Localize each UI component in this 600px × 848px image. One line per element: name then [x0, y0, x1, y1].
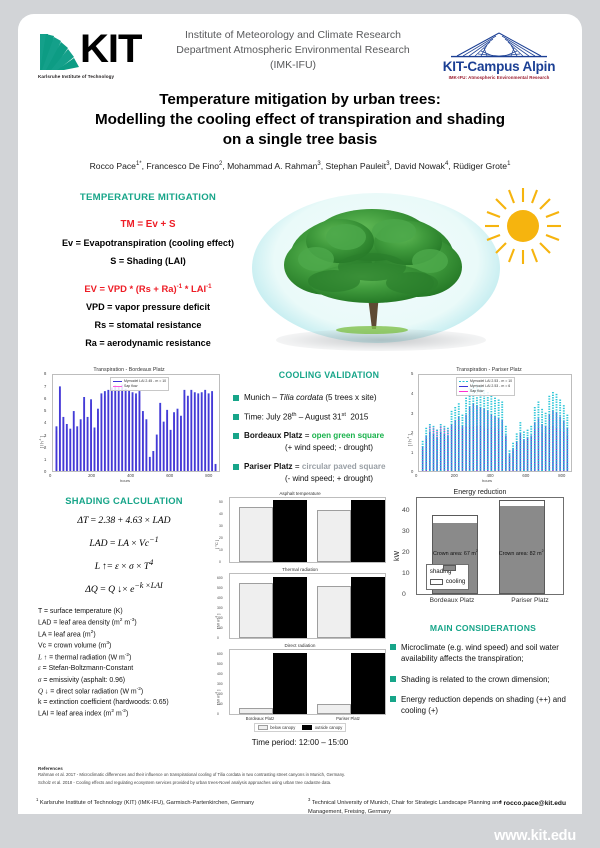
definition-vc: Vc = crown volume (m3) [38, 640, 214, 651]
equation-tm: TM = Ev + S [42, 219, 254, 230]
validation-item-site: Munich – Tilia cordata (5 trees x site) [233, 393, 425, 402]
definition-ra: Ra = aerodynamic resistance [42, 338, 254, 348]
bullet-square-icon [233, 433, 239, 439]
legend-item-shading: shading [430, 567, 466, 577]
y-tick: 2 [411, 430, 413, 435]
consideration-label: Energy reduction depends on shading (++)… [401, 694, 576, 717]
poster-page: KIT Karlsruhe Institute of Technology In… [18, 14, 582, 834]
affiliation-1: 1 Karlsruhe Institute of Technology (KIT… [36, 797, 304, 808]
definition-sigma: σ = emissivity (asphalt: 0.96) [38, 675, 214, 686]
bullet-square-icon [390, 644, 396, 650]
x-tick: 0 [415, 473, 417, 478]
legend-item: Sap flow [459, 389, 512, 394]
definition-q-down: Q ↓ = direct solar radiation (W m-2) [38, 686, 214, 697]
temperature-mitigation-block: TEMPERATURE MITIGATION TM = Ev + S Ev = … [42, 187, 254, 348]
x-axis-label: hours [120, 478, 130, 483]
y-tick: 600 [217, 652, 223, 656]
y-tick: 30 [219, 524, 223, 528]
y-tick: 3 [44, 433, 46, 438]
bar-outside-bordeaux [273, 577, 307, 638]
y-tick: 4 [44, 420, 46, 425]
sun-icon [484, 187, 562, 265]
main-considerations-block: MAIN CONSIDERATIONS Microclimate (e.g. w… [390, 623, 576, 717]
kit-logo-letters: KIT [80, 27, 141, 72]
time-period-label: Time period: 12:00 – 15:00 [214, 738, 386, 747]
annotation-crown-pariser: Crown area: 82 m2 [499, 549, 544, 557]
definition-vpd: VPD = vapor pressure deficit [42, 302, 254, 312]
y-tick: 7 [44, 384, 46, 389]
y-tick: 20 [402, 549, 410, 556]
consideration-label: Microclimate (e.g. wind speed) and soil … [401, 642, 576, 665]
y-tick: 200 [217, 692, 223, 696]
bar-outside-bordeaux [273, 500, 307, 561]
bar-group [230, 498, 385, 562]
y-tick: 400 [217, 596, 223, 600]
title-line-2: Modelling the cooling effect of transpir… [95, 111, 505, 128]
validation-item-pariser: Pariser Platz = circular paved square [233, 462, 425, 471]
y-tick: 8 [44, 371, 46, 376]
y-axis-label: [ l h-1 ] [406, 434, 412, 446]
chart-legend: shading cooling [426, 564, 470, 590]
bar-below-bordeaux [239, 708, 273, 714]
title-line-1: Temperature mitigation by urban trees: [159, 91, 441, 108]
x-tick: 200 [88, 473, 95, 478]
tree-illustration-icon [268, 201, 484, 343]
y-tick: 40 [219, 512, 223, 516]
shading-variable-definitions: T = surface temperature (K) LAD = leaf a… [34, 606, 214, 720]
bullet-square-icon [390, 676, 396, 682]
y-tick: 30 [402, 528, 410, 535]
equation-thermal: L ↑= ε × σ × T4 [34, 558, 214, 572]
x-tick-bordeaux: Bordeaux Platz [416, 597, 488, 604]
x-tick: 600 [166, 473, 173, 478]
definition-la: LA = leaf area (m2) [38, 629, 214, 640]
y-tick: 5 [44, 408, 46, 413]
validation-item-label: Munich – Tilia cordata (5 trees x site) [244, 393, 377, 402]
definition-lad: LAD = leaf area density (m2 m-3) [38, 617, 214, 628]
bullet-square-icon [233, 395, 239, 401]
y-tick: 4 [411, 391, 413, 396]
chart-thermal-radiation: Thermal radiation [ W m-2 ] 010020030040… [214, 567, 386, 641]
y-tick: 10 [402, 570, 410, 577]
bar-outside-pariser [351, 653, 385, 714]
bar-group [230, 650, 385, 714]
bar-group [230, 574, 385, 638]
bar-pariser [499, 500, 546, 594]
y-tick: 100 [217, 702, 223, 706]
y-tick: 20 [219, 536, 223, 540]
x-tick: 0 [49, 473, 51, 478]
y-tick: 300 [217, 682, 223, 686]
kit-fan-icon [38, 32, 82, 72]
author-list: Rocco Pace1*, Francesco De Fino2, Mohamm… [48, 161, 552, 171]
chart-legend: Mymodel LAI 2.45 - m = 10 Sap flow [110, 377, 169, 392]
definition-rs: Rs = stomatal resistance [42, 320, 254, 330]
y-tick: 0 [44, 469, 46, 474]
definition-epsilon: ε = Stefan-Boltzmann-Constant [38, 663, 214, 674]
swatch-outside-canopy [302, 725, 312, 730]
campus-alpin-name: KIT-Campus Alpin [434, 59, 564, 74]
kit-logo: KIT Karlsruhe Institute of Technology [38, 30, 156, 82]
reference-item: Scholz et al. 2018 - Cooling effects and… [38, 779, 518, 787]
y-tick: 1 [44, 457, 46, 462]
definition-t: T = surface temperature (K) [38, 606, 214, 617]
radiation-charts-legend: below canopy outside canopy [254, 723, 347, 732]
y-tick: 0 [411, 469, 413, 474]
y-tick: 6 [44, 396, 46, 401]
bar-outside-bordeaux [273, 653, 307, 714]
y-tick: 400 [217, 672, 223, 676]
shading-equations: ΔT = 2.38 + 4.63 × LAD LAD = LA × Vc−1 L… [34, 515, 214, 596]
cooling-validation-heading: COOLING VALIDATION [279, 370, 379, 380]
legend-item-below: below canopy [258, 725, 296, 730]
title-block: Temperature mitigation by urban trees: M… [18, 86, 582, 171]
swatch-shading [443, 565, 456, 572]
cooling-validation-block: COOLING VALIDATION Munich – Tilia cordat… [233, 365, 425, 484]
x-tick: 800 [558, 473, 565, 478]
contact-email[interactable]: * rocco.pace@kit.edu [499, 800, 566, 807]
bar-below-pariser [317, 510, 351, 561]
x-tick: 800 [205, 473, 212, 478]
equation-delta-t: ΔT = 2.38 + 4.63 × LAD [34, 515, 214, 526]
y-tick: 200 [217, 616, 223, 620]
y-tick: 2 [44, 445, 46, 450]
definition-s: S = Shading (LAI) [42, 256, 254, 266]
definition-l-up: L ↑ = thermal radiation (W m-2) [38, 652, 214, 663]
institute-title: Institute of Meteorology and Climate Res… [164, 28, 422, 73]
equation-lad: LAD = LA × Vc−1 [34, 535, 214, 549]
consideration-item-2: Shading is related to the crown dimensio… [390, 674, 576, 685]
y-tick: 5 [411, 371, 413, 376]
consideration-item-3: Energy reduction depends on shading (++)… [390, 694, 576, 717]
chart-asphalt-temperature: Asphalt temperature [ °C ] 01020304050 [214, 491, 386, 565]
y-tick: 50 [219, 500, 223, 504]
y-tick: 0 [217, 712, 219, 716]
validation-item-label: Bordeaux Platz = open green square [244, 431, 384, 440]
shading-calculation-heading: SHADING CALCULATION [34, 495, 214, 506]
chart-title: Transpiration - Pariser Platz [404, 367, 574, 374]
y-tick: 300 [217, 606, 223, 610]
reference-item: Rahman et al. 2017 - Microclimatic diffe… [38, 771, 518, 779]
validation-item-label: Pariser Platz = circular paved square [244, 462, 386, 471]
hero-section: TEMPERATURE MITIGATION TM = Ev + S Ev = … [18, 179, 582, 361]
equation-delta-q: ΔQ = Q ↓× e−k ×LAI [34, 581, 214, 595]
references-block: References Rahman et al. 2017 - Microcli… [38, 766, 518, 786]
definition-k: k = extinction coefficient (hardwoods: 0… [38, 697, 214, 708]
mountain-lines-icon [443, 32, 555, 58]
y-tick: 0 [217, 636, 219, 640]
consideration-label: Shading is related to the crown dimensio… [401, 674, 550, 685]
bar-below-bordeaux [239, 583, 273, 637]
x-tick-pariser: Pariser Platz [494, 597, 566, 604]
chart-title: Energy reduction [390, 489, 570, 497]
kit-url[interactable]: www.kit.edu [494, 828, 576, 844]
x-axis-label: hours [482, 478, 492, 483]
equation-ev: EV = VPD * (Rs + Ra)-1 * LAI-1 [42, 283, 254, 294]
bullet-square-icon [233, 464, 239, 470]
page-title: Temperature mitigation by urban trees: M… [48, 90, 552, 151]
consideration-item-1: Microclimate (e.g. wind speed) and soil … [390, 642, 576, 665]
poster-header: KIT Karlsruhe Institute of Technology In… [18, 14, 582, 86]
x-tick: 200 [451, 473, 458, 478]
validation-pariser-note: (- wind speed; + drought) [233, 474, 425, 483]
chart-transpiration-bordeaux: Transpiration - Bordeaux Platz [ l h-1 ]… [36, 367, 222, 486]
x-tick-pariser: Pariser Platz [318, 716, 378, 721]
bar-outside-pariser [351, 577, 385, 638]
y-axis-label: kW [394, 551, 401, 561]
y-tick: 500 [217, 586, 223, 590]
validation-row: Transpiration - Bordeaux Platz [ l h-1 ]… [18, 363, 582, 491]
y-tick: 0 [402, 591, 406, 598]
legend-item-cooling: cooling [430, 577, 466, 587]
chart-direct-radiation: Direct radiation [ W m-2 ] 0100200300400… [214, 643, 386, 747]
x-tick-bordeaux: Bordeaux Platz [230, 716, 290, 721]
title-line-3: on a single tree basis [223, 131, 377, 148]
validation-item-label: Time: July 28th – August 31st 2015 [244, 412, 368, 422]
bar-below-bordeaux [239, 507, 273, 561]
kit-campus-alpin-logo: KIT-Campus Alpin IMK-IFU: Atmospheric En… [434, 32, 564, 80]
validation-item-time: Time: July 28th – August 31st 2015 [233, 412, 425, 422]
y-tick: 3 [411, 411, 413, 416]
y-tick: 0 [219, 560, 221, 564]
annotation-crown-bordeaux: Crown area: 67 m2 [433, 549, 478, 557]
shading-calculation-block: SHADING CALCULATION ΔT = 2.38 + 4.63 × L… [34, 495, 214, 720]
bar-below-pariser [317, 704, 351, 714]
bar-group: Crown area: 67 m2 Crown area: 82 m2 shad… [417, 498, 563, 594]
chart-legend: Mymodel LAI 2.53 - m = 10 Mymodel LAI 2.… [456, 377, 515, 397]
bar-below-pariser [317, 586, 351, 637]
chart-title: Transpiration - Bordeaux Platz [36, 367, 222, 374]
legend-item: Sap flow [113, 384, 166, 389]
swatch-below-canopy [258, 725, 268, 730]
temperature-mitigation-heading: TEMPERATURE MITIGATION [80, 192, 216, 203]
chart-transpiration-pariser: Transpiration - Pariser Platz [ l h-1 ] … [404, 367, 574, 486]
y-axis-label: [ °C ] [214, 540, 219, 549]
validation-item-bordeaux: Bordeaux Platz = open green square [233, 431, 425, 440]
y-tick: 500 [217, 662, 223, 666]
main-considerations-heading: MAIN CONSIDERATIONS [390, 623, 576, 633]
x-tick: 600 [522, 473, 529, 478]
lower-section: SHADING CALCULATION ΔT = 2.38 + 4.63 × L… [18, 495, 582, 725]
segment-cooling [433, 516, 478, 523]
y-tick: 1 [411, 450, 413, 455]
bullet-square-icon [390, 696, 396, 702]
definition-lai: LAI = leaf area index (m2 m-2) [38, 708, 214, 719]
radiation-charts-group: Asphalt temperature [ °C ] 01020304050 [214, 491, 386, 749]
y-tick: 100 [217, 626, 223, 630]
y-tick: 10 [219, 548, 223, 552]
campus-alpin-subtitle: IMK-IFU: Atmospheric Environmental Resea… [434, 75, 564, 80]
validation-bordeaux-note: (+ wind speed; - drought) [233, 443, 425, 452]
swatch-cooling [430, 579, 443, 586]
y-tick: 40 [402, 507, 410, 514]
kit-logo-tagline: Karlsruhe Institute of Technology [38, 74, 114, 79]
y-tick: 600 [217, 576, 223, 580]
bullet-square-icon [233, 414, 239, 420]
legend-item-outside: outside canopy [302, 725, 342, 730]
bar-outside-pariser [351, 500, 385, 561]
definition-ev: Ev = Evapotranspiration (cooling effect) [42, 238, 254, 248]
chart-energy-reduction: Energy reduction kW Crown area: 67 m2 [390, 489, 570, 609]
